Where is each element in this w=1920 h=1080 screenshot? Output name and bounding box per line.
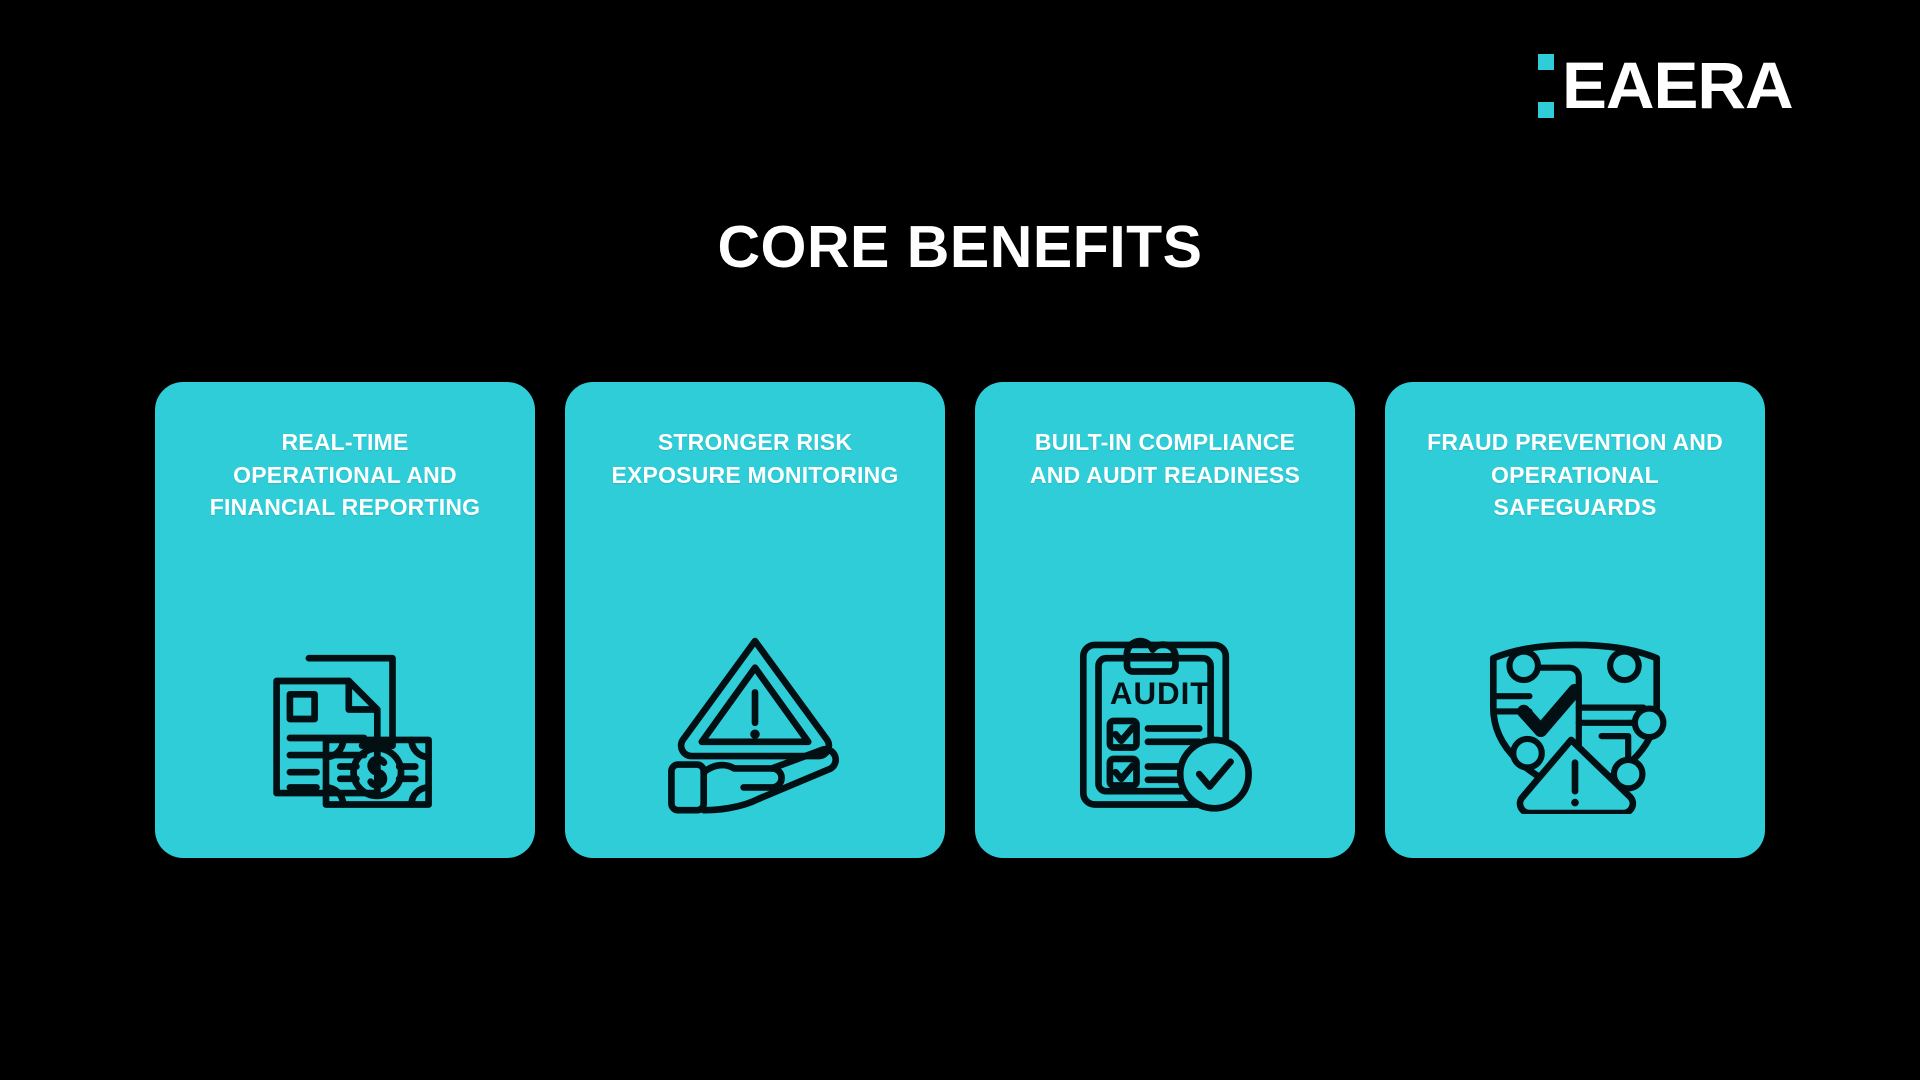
audit-icon-label: AUDIT	[1110, 676, 1211, 711]
benefit-card-title: STRONGER RISK EXPOSURE MONITORING	[605, 426, 905, 491]
document-and-banknote-icon	[250, 624, 440, 814]
page-title: CORE BENEFITS	[0, 218, 1920, 277]
logo-wordmark: EAERA	[1562, 48, 1793, 122]
benefit-card-title: REAL-TIME OPERATIONAL AND FINANCIAL REPO…	[195, 426, 495, 524]
benefit-card-risk-monitoring[interactable]: STRONGER RISK EXPOSURE MONITORING	[565, 382, 945, 858]
hand-holding-warning-triangle-icon	[660, 624, 850, 814]
benefit-cards-row: REAL-TIME OPERATIONAL AND FINANCIAL REPO…	[155, 382, 1765, 858]
benefit-card-real-time-reporting[interactable]: REAL-TIME OPERATIONAL AND FINANCIAL REPO…	[155, 382, 535, 858]
shield-circuit-warning-icon	[1480, 624, 1670, 814]
benefit-card-title: FRAUD PREVENTION AND OPERATIONAL SAFEGUA…	[1425, 426, 1725, 524]
logo-square-bottom-icon	[1538, 102, 1554, 118]
logo-square-top-icon	[1538, 54, 1554, 70]
brand-logo: EAERA	[1536, 46, 1788, 124]
benefit-card-compliance-audit[interactable]: BUILT-IN COMPLIANCE AND AUDIT READINESS …	[975, 382, 1355, 858]
audit-clipboard-checkmark-icon: AUDIT	[1070, 624, 1260, 814]
benefit-card-fraud-prevention[interactable]: FRAUD PREVENTION AND OPERATIONAL SAFEGUA…	[1385, 382, 1765, 858]
benefit-card-title: BUILT-IN COMPLIANCE AND AUDIT READINESS	[1015, 426, 1315, 491]
logo-square-group	[1536, 48, 1558, 122]
